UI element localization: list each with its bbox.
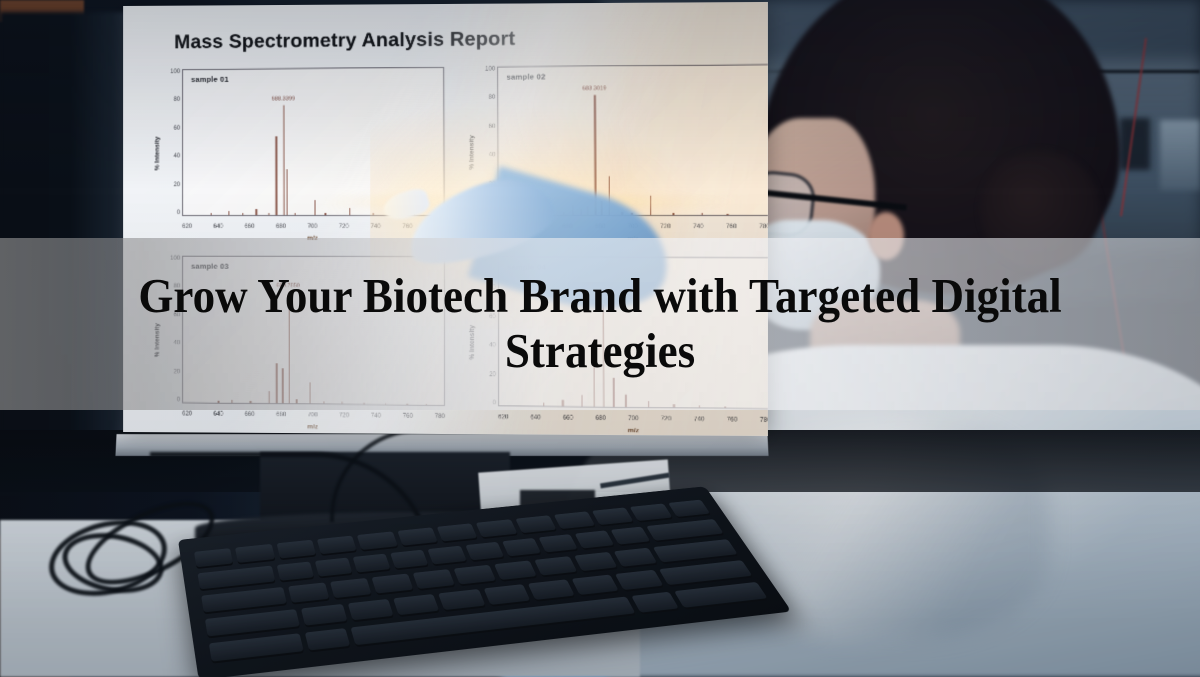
spectrum-peak <box>286 169 287 215</box>
keyboard-key <box>538 534 578 554</box>
report-title: Mass Spectrometry Analysis Report <box>174 28 515 54</box>
x-axis-label: m/z <box>498 426 768 436</box>
spectrum-peak <box>325 213 326 215</box>
keyboard-key <box>201 587 287 614</box>
banner-image: Mass Spectrometry Analysis Report % Inte… <box>0 0 1200 677</box>
y-tick: 100 <box>170 69 180 75</box>
y-tick: 80 <box>488 95 495 101</box>
keyboard-key <box>630 503 673 522</box>
y-tick: 60 <box>489 124 496 130</box>
keyboard-key <box>483 584 531 607</box>
keyboard-key <box>674 582 769 610</box>
keyboard-key <box>317 536 358 556</box>
keyboard-key <box>574 530 615 550</box>
x-tick: 780 <box>760 417 768 423</box>
keyboard-key <box>554 511 597 530</box>
keyboard-key <box>465 542 505 562</box>
keyboard-key <box>276 540 316 561</box>
headline-line-2: Strategies <box>505 323 695 378</box>
keyboard-key <box>315 558 353 579</box>
y-tick: 80 <box>174 97 181 103</box>
x-tick: 720 <box>660 224 670 230</box>
x-tick: 760 <box>726 224 737 230</box>
keyboard-key <box>353 554 392 575</box>
keyboard-key <box>397 527 438 547</box>
x-tick: 740 <box>694 417 705 423</box>
keyboard-key <box>438 589 485 612</box>
spectrum-peak <box>210 213 211 215</box>
y-tick: 40 <box>174 154 181 160</box>
x-tick: 660 <box>563 415 573 421</box>
keyboard-key <box>515 515 557 535</box>
spectrum-peak <box>294 213 295 215</box>
keyboard-key <box>305 628 351 652</box>
spectrum-peak <box>727 213 728 214</box>
peak-label: 683.3019 <box>582 86 606 92</box>
spectrum-peak <box>256 209 257 215</box>
x-tick: 780 <box>759 224 768 230</box>
y-tick: 60 <box>174 125 181 131</box>
keyboard-key <box>301 604 347 628</box>
x-tick: 740 <box>371 413 381 419</box>
keyboard-key <box>209 633 304 663</box>
keyboard-key <box>668 500 711 519</box>
spectrum-peak <box>650 195 652 215</box>
x-tick: 700 <box>628 416 638 422</box>
x-tick: 660 <box>245 412 255 418</box>
headline-overlay-band: Grow Your Biotech Brand with Targeted Di… <box>0 238 1200 410</box>
x-tick: 640 <box>213 411 223 417</box>
x-axis-ticks: 620 640 660 680 700 720 740 760 780 <box>498 415 768 424</box>
x-tick: 680 <box>595 416 605 422</box>
keyboard-key <box>330 578 372 600</box>
keyboard-key <box>615 570 664 592</box>
keyboard-key <box>592 507 635 526</box>
x-tick: 620 <box>498 415 508 421</box>
spectrum-peak <box>372 213 373 215</box>
page-title: Grow Your Biotech Brand with Targeted Di… <box>80 269 1120 379</box>
x-tick: 700 <box>308 412 318 418</box>
y-tick: 100 <box>485 66 495 72</box>
x-tick: 720 <box>661 416 671 422</box>
keyboard-key <box>653 539 739 564</box>
keyboard-key <box>610 527 651 547</box>
spectrum-peak <box>672 213 673 215</box>
x-tick: 720 <box>339 224 349 230</box>
y-axis-ticks: 100 80 60 40 20 0 <box>155 69 181 216</box>
keyboard-key <box>528 579 576 601</box>
x-tick: 780 <box>435 414 445 420</box>
keyboard-key <box>646 519 724 542</box>
keyboard-key <box>476 519 518 539</box>
spectrum-peak <box>349 208 350 215</box>
x-tick: 720 <box>339 413 349 419</box>
keyboard-key <box>437 523 479 543</box>
spectrum-peak <box>268 213 269 215</box>
keyboard-key <box>502 538 542 558</box>
keyboard-key <box>574 552 618 573</box>
keyboard-key <box>534 556 578 577</box>
spectrum-peak <box>229 211 230 215</box>
keyboard-key <box>277 562 315 583</box>
keyboard-key <box>288 582 330 604</box>
x-tick: 700 <box>307 224 317 230</box>
headline-line-1: Grow Your Biotech Brand with Targeted Di… <box>138 268 1061 323</box>
y-tick: 40 <box>489 152 496 158</box>
x-tick: 640 <box>530 415 540 421</box>
keyboard-key <box>390 550 429 571</box>
keyboard-key <box>393 594 440 617</box>
keyboard-key <box>194 548 234 569</box>
x-axis-ticks: 620 640 660 680 700 720 740 760 780 <box>182 411 445 420</box>
x-tick: 640 <box>213 224 223 230</box>
keyboard-key <box>631 592 680 615</box>
keyboard-key <box>572 575 620 597</box>
keyboard-key <box>413 569 456 591</box>
keyboard-key <box>372 574 415 596</box>
x-tick: 680 <box>276 224 286 230</box>
x-tick: 740 <box>693 224 704 230</box>
x-tick: 620 <box>182 411 192 417</box>
keyboard-key <box>235 544 275 565</box>
x-tick: 760 <box>402 224 412 230</box>
keyboard-key <box>347 599 394 622</box>
x-tick: 740 <box>371 224 381 230</box>
spectrum-peak <box>314 200 315 215</box>
x-tick: 680 <box>276 412 286 418</box>
spectrum-peak <box>283 105 284 215</box>
keyboard-key <box>453 565 496 586</box>
y-tick: 20 <box>174 182 181 188</box>
keyboard-key <box>613 548 658 569</box>
keyboard-key <box>428 546 467 566</box>
keyboard-key <box>357 531 398 551</box>
spectrum-peak <box>276 136 277 215</box>
spectrum-peak <box>242 213 243 215</box>
y-tick: 0 <box>177 210 180 216</box>
x-tick: 760 <box>727 417 738 423</box>
keyboard-key <box>494 560 538 581</box>
x-axis-ticks: 620 640 660 680 700 720 740 760 780 <box>182 224 445 230</box>
spectrum-peak <box>701 213 702 215</box>
x-tick: 620 <box>182 224 192 230</box>
keyboard-key <box>197 566 275 592</box>
x-tick: 760 <box>403 414 413 420</box>
x-axis-label: m/z <box>182 422 445 432</box>
peak-label: 688.3399 <box>272 96 295 102</box>
x-tick: 660 <box>245 224 255 230</box>
